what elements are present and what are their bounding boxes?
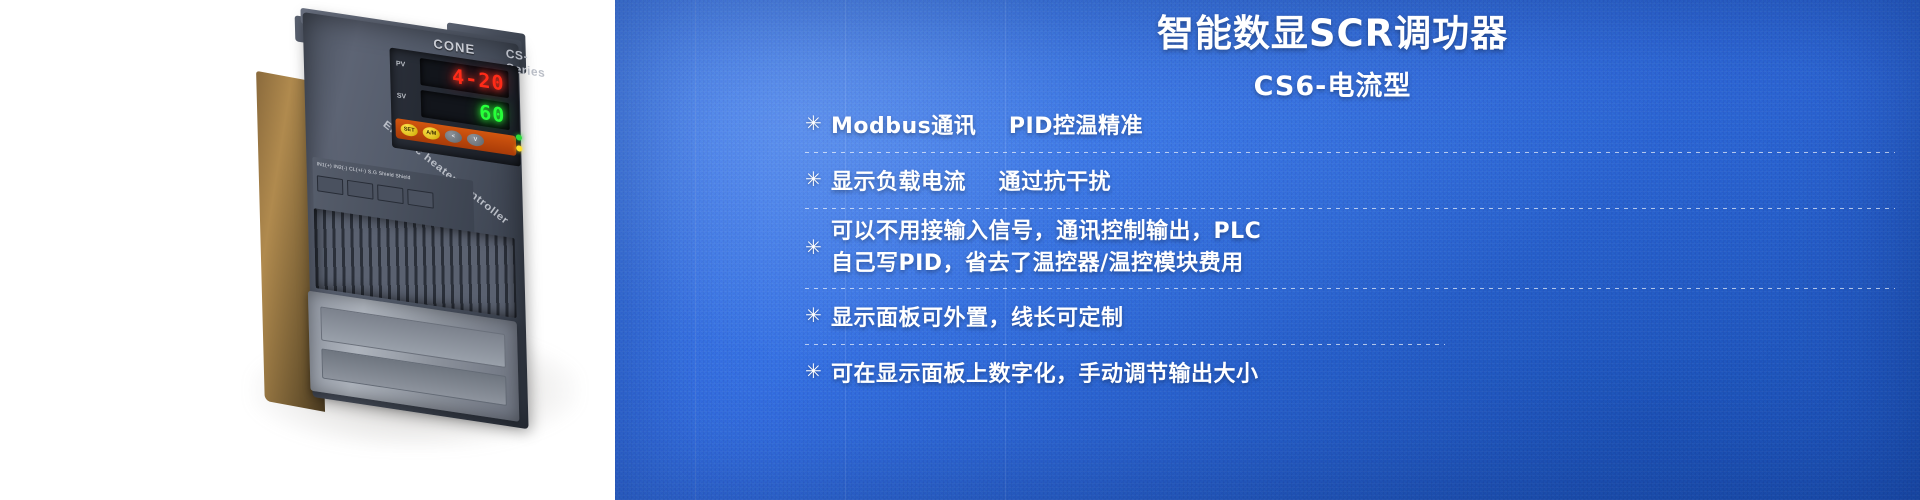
feature-text: Modbus通讯 PID控温精准 xyxy=(831,108,1143,140)
feature-item-plc: ✳ 可以不用接输入信号，通讯控制输出，PLC 自己写PID，省去了温控器/温控模… xyxy=(805,216,1895,284)
heading-group: 智能数显SCR调功器 CS6-电流型 xyxy=(615,14,1920,103)
page-title: 智能数显SCR调功器 xyxy=(615,14,1920,55)
down-key: V xyxy=(467,133,484,148)
product-banner: CONE CS-Series Electric heater controlle… xyxy=(0,0,1920,500)
feature-text: 显示面板可外置，线长可定制 xyxy=(831,300,1124,332)
bullet-star-icon: ✳ xyxy=(805,170,831,190)
feature-divider xyxy=(805,288,1895,289)
terminal-block xyxy=(317,175,344,195)
pv-tag: PV xyxy=(396,60,406,68)
product-photo-panel: CONE CS-Series Electric heater controlle… xyxy=(0,0,615,500)
bullet-star-icon: ✳ xyxy=(805,114,831,134)
sv-tag: SV xyxy=(397,92,407,100)
feature-text: 显示负载电流 通过抗干扰 xyxy=(831,164,1111,196)
feature-divider xyxy=(805,344,1445,345)
feature-item-panel: ✳ 显示面板可外置，线长可定制 xyxy=(805,296,1895,340)
bullet-star-icon: ✳ xyxy=(805,362,831,382)
terminal-block xyxy=(407,188,434,208)
feature-text: 可在显示面板上数字化，手动调节输出大小 xyxy=(831,356,1259,388)
sv-value: 60 xyxy=(479,100,506,128)
shift-key: < xyxy=(445,129,462,144)
feature-item-modbus: ✳ Modbus通讯 PID控温精准 xyxy=(805,104,1895,148)
auto-manual-key: A/M xyxy=(423,126,440,141)
bullet-star-icon: ✳ xyxy=(805,238,831,258)
out-led xyxy=(516,134,522,141)
bullet-star-icon: ✳ xyxy=(805,306,831,326)
pv-value: 4-20 xyxy=(452,64,505,96)
terminal-block xyxy=(377,184,404,204)
set-key: SET xyxy=(401,123,418,138)
page-subtitle: CS6-电流型 xyxy=(615,64,1920,103)
product-photo: CONE CS-Series Electric heater controlle… xyxy=(0,0,615,500)
feature-divider xyxy=(805,152,1895,153)
status-leds xyxy=(516,134,522,152)
terminal-block xyxy=(347,179,374,199)
alarm-led xyxy=(516,145,522,152)
feature-divider xyxy=(805,208,1895,209)
scr-regulator-device: CONE CS-Series Electric heater controlle… xyxy=(265,14,575,422)
digital-display-module: PV SV 4-20 60 SET A/M < V xyxy=(390,47,521,166)
feature-item-current: ✳ 显示负载电流 通过抗干扰 xyxy=(805,160,1895,204)
feature-text: 可以不用接输入信号，通讯控制输出，PLC 自己写PID，省去了温控器/温控模块费… xyxy=(831,216,1261,280)
marketing-panel: 智能数显SCR调功器 CS6-电流型 ✳ Modbus通讯 PID控温精准 ✳ … xyxy=(615,0,1920,500)
feature-item-manual: ✳ 可在显示面板上数字化，手动调节输出大小 xyxy=(805,352,1895,396)
feature-list: ✳ Modbus通讯 PID控温精准 ✳ 显示负载电流 通过抗干扰 ✳ 可以不用… xyxy=(805,104,1895,396)
